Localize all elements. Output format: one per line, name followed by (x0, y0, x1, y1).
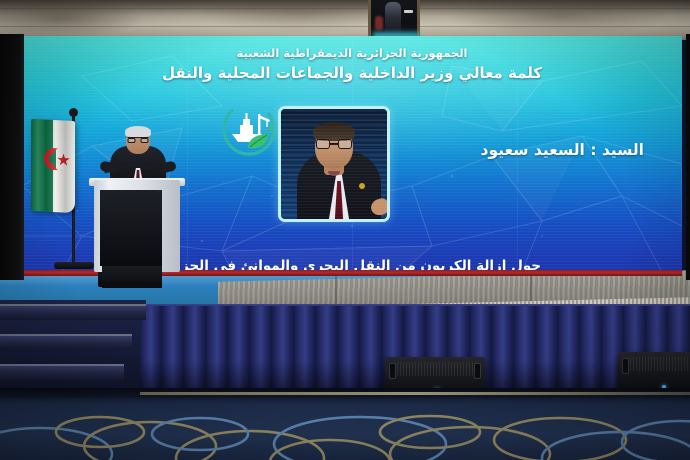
stair-step (0, 334, 132, 350)
wall-shading (0, 0, 690, 40)
doorway-red-accent (375, 16, 383, 30)
floor-gold-strip (140, 392, 690, 395)
conference-stage-scene: الجمهورية الجزائرية الديمقراطية الشعبية … (0, 0, 690, 460)
monitor-grille (624, 357, 690, 371)
wall-seam (0, 26, 690, 27)
maritime-decarbonization-logo (218, 98, 280, 160)
rug-seam (335, 276, 337, 306)
monitor-handle (474, 363, 481, 379)
wall-seam (0, 8, 690, 9)
portrait-glasses (316, 139, 352, 149)
screen-republic-title: الجمهورية الجزائرية الديمقراطية الشعبية (22, 46, 682, 60)
podium-front-panel (100, 190, 162, 266)
floor-shadow (0, 388, 690, 404)
speaker-hair (125, 126, 151, 137)
podium-base (102, 266, 162, 288)
portrait-lapel-pin (359, 183, 365, 189)
monitor-grille (391, 362, 479, 376)
black-curtain-left (0, 34, 24, 280)
speaker-glasses (128, 137, 149, 142)
minister-portrait (278, 106, 390, 222)
screen-speech-title: كلمة معالي وزير الداخلية والجماعات المحل… (22, 64, 682, 82)
speaker-right-arm (159, 160, 177, 173)
podium-area (86, 128, 190, 288)
monitor-handle (622, 358, 629, 374)
doorway-light (404, 10, 413, 13)
monitor-handle (389, 363, 396, 379)
flag-folds (31, 119, 75, 213)
doorway (368, 0, 420, 40)
doorway-figure (385, 2, 401, 36)
stair-step (0, 364, 124, 380)
flag-cloth (31, 119, 75, 213)
stair-step (0, 304, 146, 320)
stage-stairs (0, 300, 146, 400)
black-curtain-right (686, 34, 690, 280)
screen-speaker-name: السيد : السعيد سعيود (481, 141, 645, 159)
